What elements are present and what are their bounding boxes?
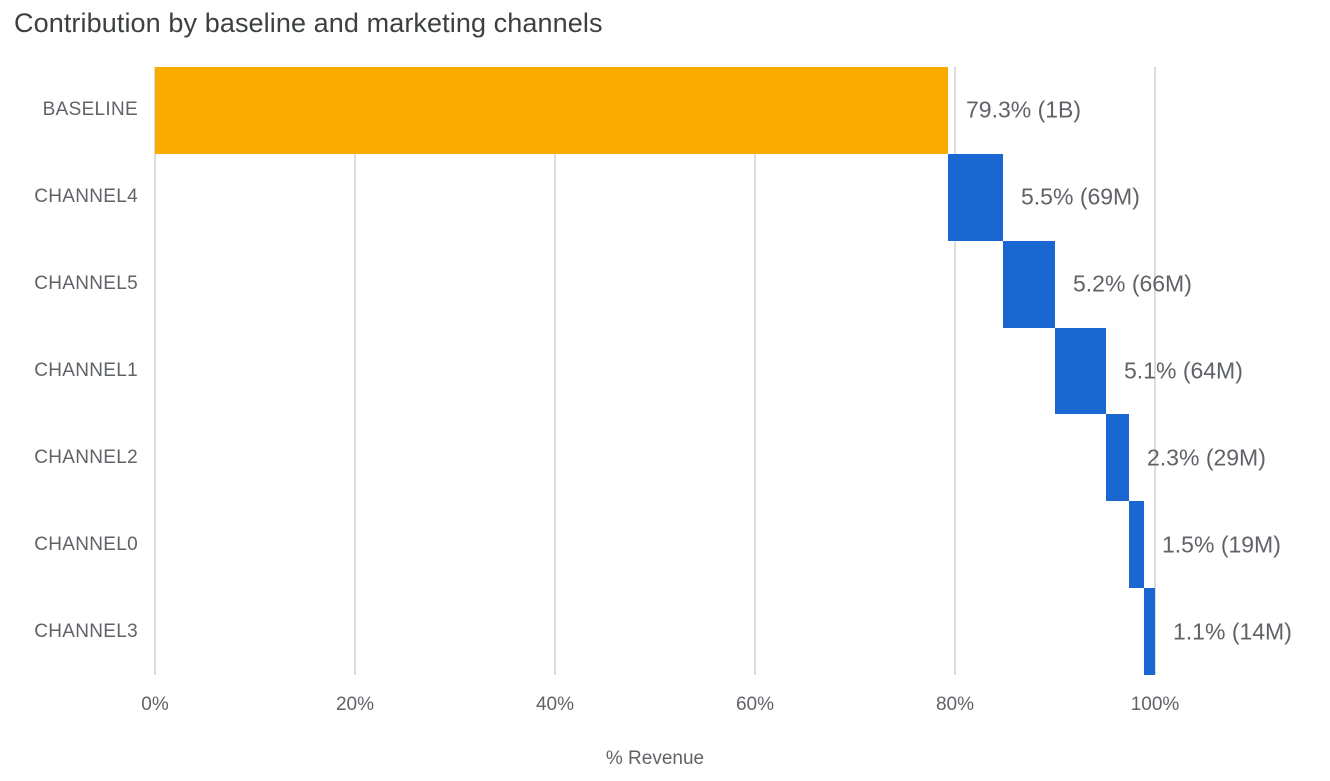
bar-row: 2.3% (29M) xyxy=(155,414,1155,501)
bar-value-label-channel2: 2.3% (29M) xyxy=(1147,444,1266,471)
y-axis-label-baseline: BASELINE xyxy=(43,99,138,121)
bar-channel5[interactable] xyxy=(1003,241,1055,328)
y-axis-label-channel4: CHANNEL4 xyxy=(34,186,138,208)
x-axis-tick-80%: 80% xyxy=(936,694,974,716)
bar-row: 5.5% (69M) xyxy=(155,154,1155,241)
bar-row: 5.1% (64M) xyxy=(155,328,1155,415)
x-axis-tick-40%: 40% xyxy=(536,694,574,716)
y-axis-label-channel5: CHANNEL5 xyxy=(34,273,138,295)
waterfall-chart: Contribution by baseline and marketing c… xyxy=(0,0,1330,781)
y-axis-category-labels: BASELINECHANNEL4CHANNEL5CHANNEL1CHANNEL2… xyxy=(0,67,138,675)
x-axis-title: % Revenue xyxy=(606,748,704,770)
y-axis-label-channel1: CHANNEL1 xyxy=(34,360,138,382)
bar-channel0[interactable] xyxy=(1129,501,1144,588)
y-axis-label-channel3: CHANNEL3 xyxy=(34,621,138,643)
x-axis-tick-100%: 100% xyxy=(1131,694,1180,716)
bar-value-label-baseline: 79.3% (1B) xyxy=(966,97,1081,124)
bar-value-label-channel4: 5.5% (69M) xyxy=(1021,184,1140,211)
bar-row: 1.1% (14M) xyxy=(155,588,1155,675)
y-axis-label-channel2: CHANNEL2 xyxy=(34,447,138,469)
chart-title: Contribution by baseline and marketing c… xyxy=(14,8,603,39)
bar-value-label-channel5: 5.2% (66M) xyxy=(1073,271,1192,298)
bar-row: 79.3% (1B) xyxy=(155,67,1155,154)
x-axis-tick-60%: 60% xyxy=(736,694,774,716)
plot-area: 79.3% (1B)5.5% (69M)5.2% (66M)5.1% (64M)… xyxy=(155,67,1155,675)
x-axis-tick-20%: 20% xyxy=(336,694,374,716)
bar-baseline[interactable] xyxy=(155,67,948,154)
y-axis-label-channel0: CHANNEL0 xyxy=(34,534,138,556)
bar-value-label-channel0: 1.5% (19M) xyxy=(1162,531,1281,558)
bar-row: 1.5% (19M) xyxy=(155,501,1155,588)
x-axis-tick-0%: 0% xyxy=(141,694,168,716)
bar-channel4[interactable] xyxy=(948,154,1003,241)
bar-value-label-channel1: 5.1% (64M) xyxy=(1124,357,1243,384)
bar-channel2[interactable] xyxy=(1106,414,1129,501)
bar-channel3[interactable] xyxy=(1144,588,1155,675)
bar-row: 5.2% (66M) xyxy=(155,241,1155,328)
bar-channel1[interactable] xyxy=(1055,328,1106,415)
bar-value-label-channel3: 1.1% (14M) xyxy=(1173,618,1292,645)
